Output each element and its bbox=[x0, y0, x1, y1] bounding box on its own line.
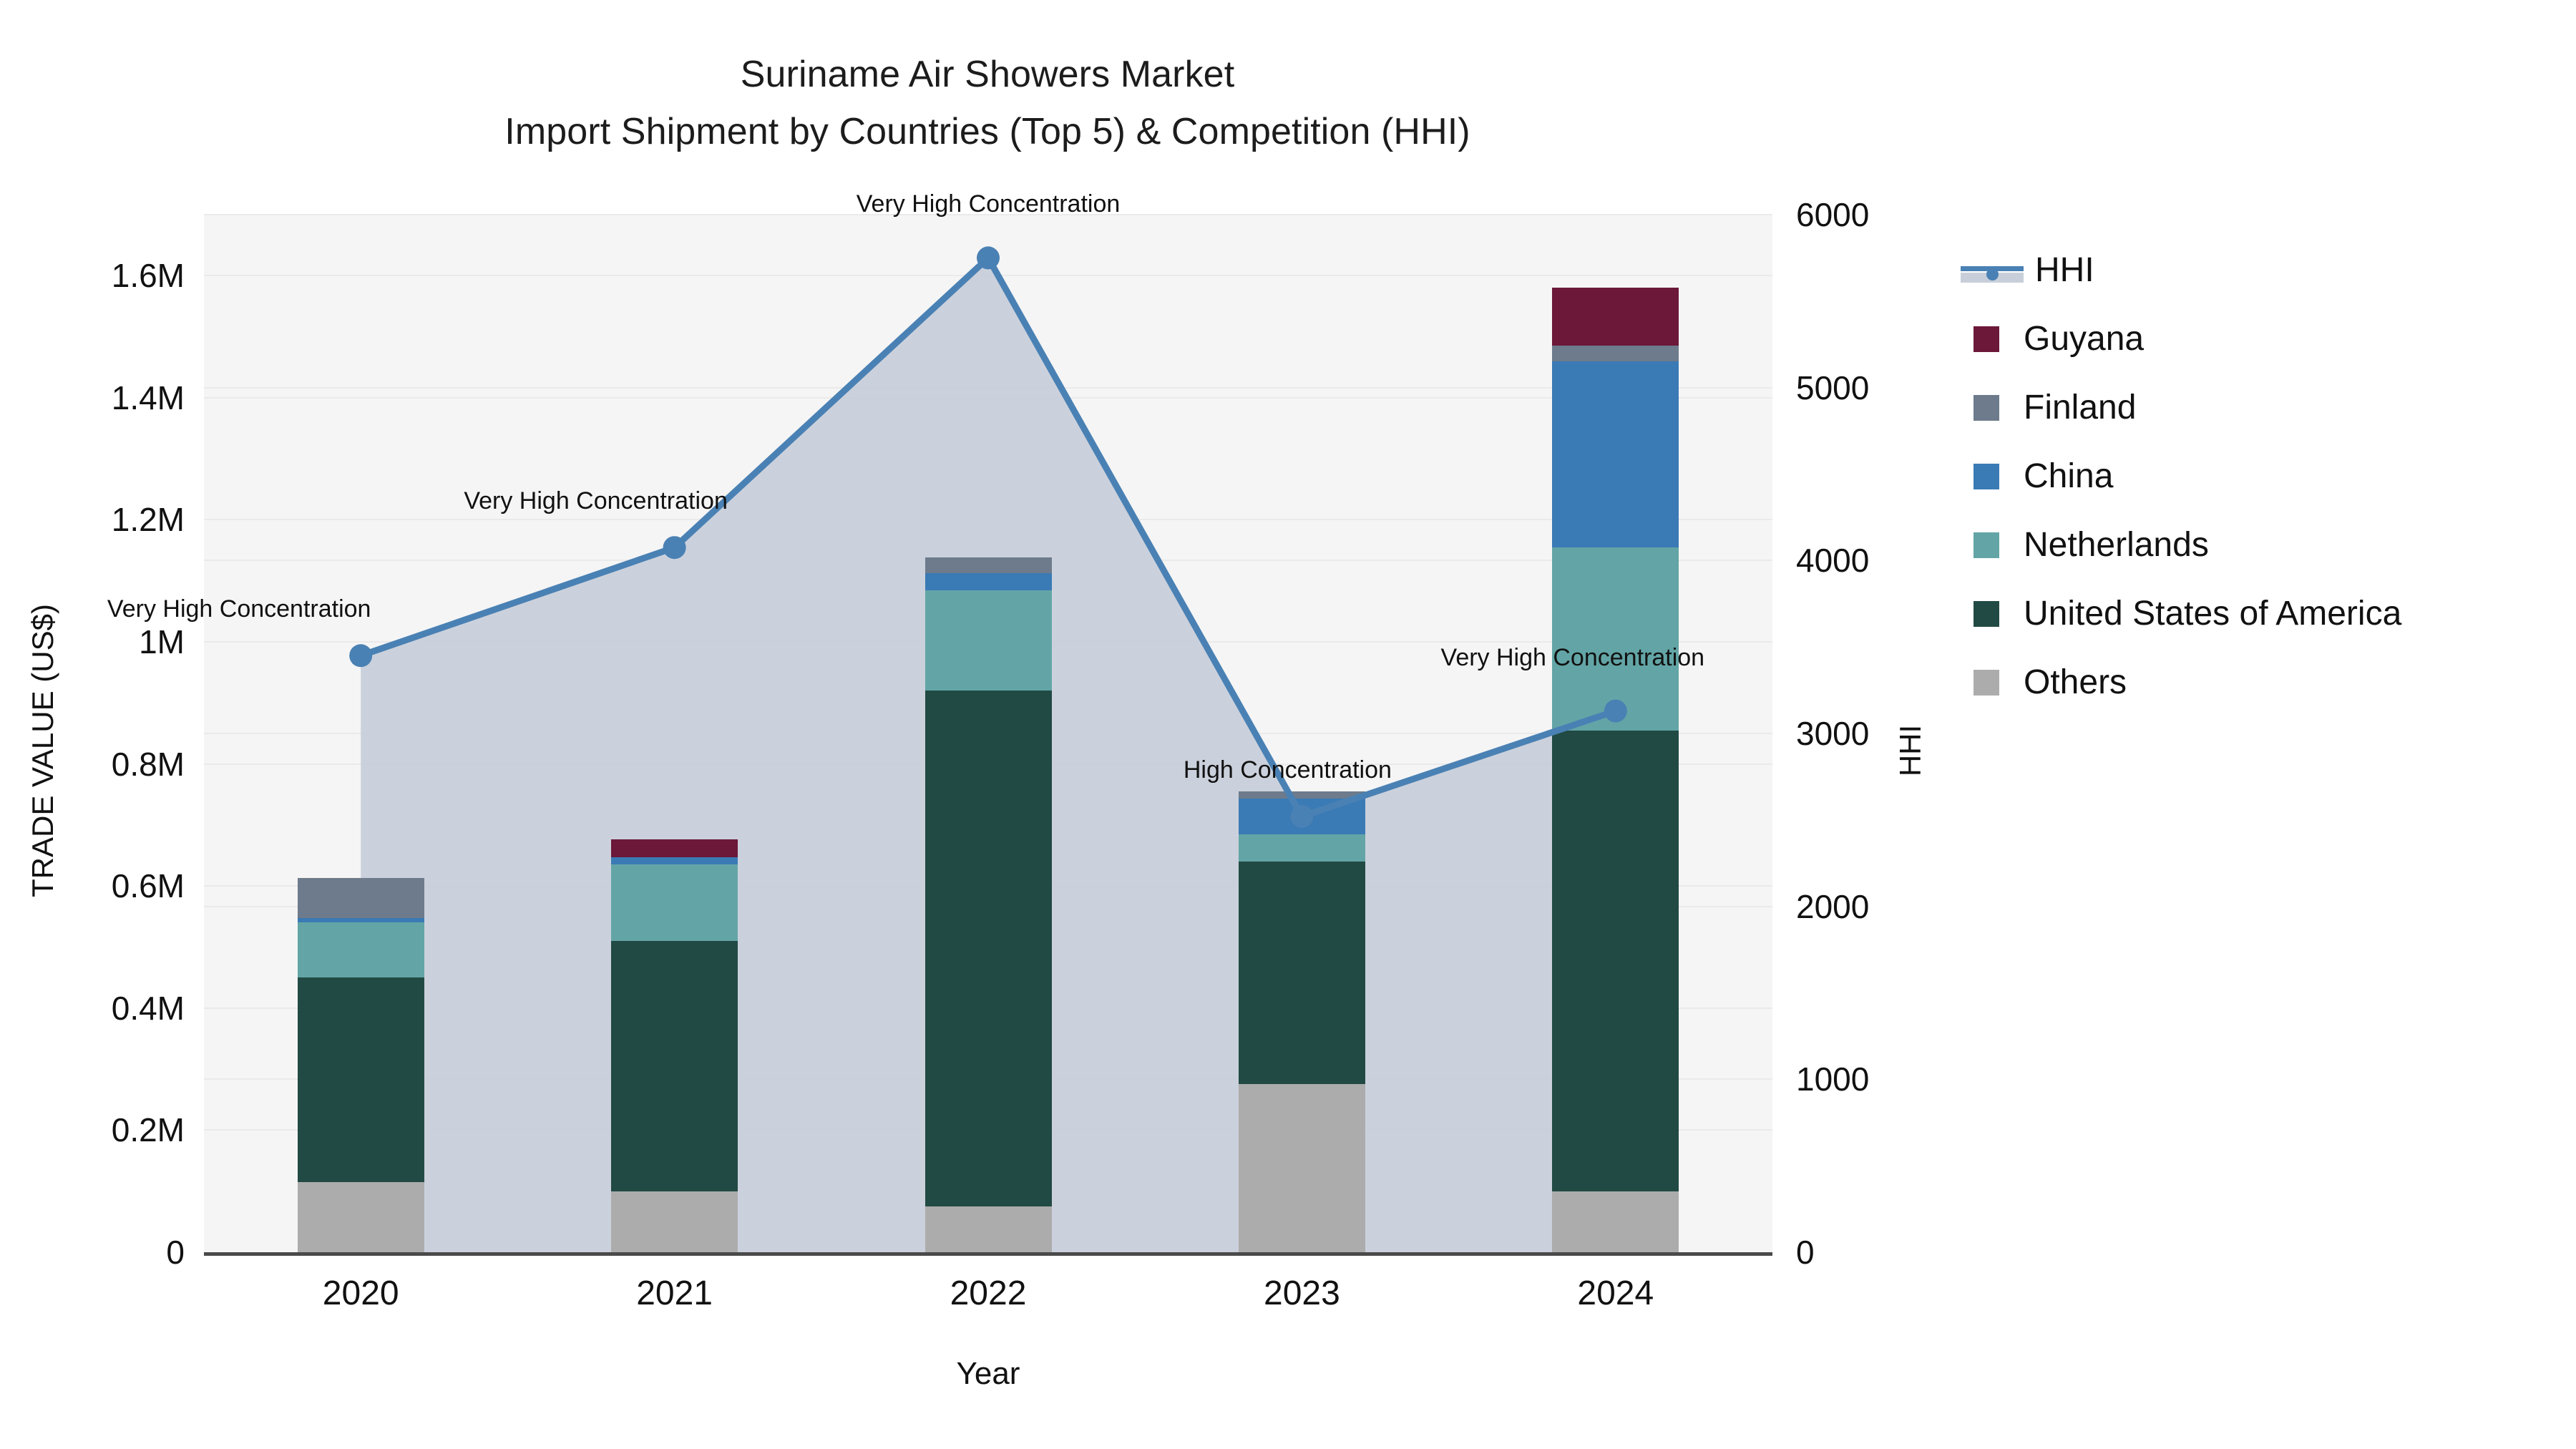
y-axis-right-tick-label: 4000 bbox=[1796, 541, 1869, 580]
legend-item[interactable]: Guyana bbox=[1961, 305, 2562, 374]
x-axis-tick-label: 2023 bbox=[1264, 1274, 1340, 1313]
hhi-point-annotation: Very High Concentration bbox=[1441, 645, 1705, 670]
legend-marker-dot bbox=[1986, 268, 1999, 280]
y-axis-left-tick-label: 0.6M bbox=[6, 867, 185, 905]
legend-item-label: HHI bbox=[2035, 253, 2094, 288]
legend-item-label: United States of America bbox=[2024, 597, 2401, 631]
legend-color-swatch bbox=[1974, 670, 1999, 696]
hhi-point-annotation: Very High Concentration bbox=[857, 192, 1121, 216]
chart-figure: Suriname Air Showers Market Import Shipm… bbox=[0, 0, 2576, 1449]
y-axis-left-tick-label: 0.4M bbox=[6, 989, 185, 1028]
y-axis-right-tick-label: 3000 bbox=[1796, 714, 1869, 753]
x-axis-line bbox=[204, 1252, 1772, 1256]
legend-color-swatch bbox=[1974, 395, 1999, 421]
legend-line-icon bbox=[1961, 257, 2024, 284]
legend-item[interactable]: HHI bbox=[1961, 236, 2562, 305]
x-axis-title: Year bbox=[204, 1356, 1772, 1392]
chart-title-block: Suriname Air Showers Market Import Shipm… bbox=[0, 56, 1975, 150]
hhi-annotations: Very High ConcentrationVery High Concent… bbox=[204, 215, 1772, 1252]
chart-legend: HHIGuyanaFinlandChinaNetherlandsUnited S… bbox=[1961, 236, 2562, 717]
legend-color-swatch bbox=[1974, 326, 1999, 352]
y-axis-left-tick-label: 1.2M bbox=[6, 500, 185, 539]
chart-subtitle: Import Shipment by Countries (Top 5) & C… bbox=[0, 113, 1975, 150]
hhi-point-annotation: Very High Concentration bbox=[107, 597, 371, 621]
legend-color-swatch bbox=[1974, 532, 1999, 558]
x-axis-tick-label: 2024 bbox=[1577, 1274, 1654, 1313]
y-axis-right-title: HHI bbox=[1893, 643, 1928, 858]
y-axis-right-tick-label: 1000 bbox=[1796, 1060, 1869, 1098]
hhi-point-annotation: High Concentration bbox=[1184, 758, 1392, 782]
x-axis-tick-label: 2021 bbox=[636, 1274, 713, 1313]
x-axis-tick-label: 2022 bbox=[950, 1274, 1027, 1313]
hhi-point-annotation: Very High Concentration bbox=[464, 489, 728, 513]
legend-item-label: Finland bbox=[2024, 391, 2136, 425]
y-axis-left-tick-label: 0.2M bbox=[6, 1111, 185, 1149]
y-axis-left-tick-label: 0 bbox=[6, 1233, 185, 1272]
legend-color-swatch bbox=[1974, 601, 1999, 627]
y-axis-right-tick-label: 2000 bbox=[1796, 887, 1869, 926]
y-axis-left-tick-label: 1.6M bbox=[6, 256, 185, 295]
chart-title: Suriname Air Showers Market bbox=[0, 56, 1975, 93]
legend-item[interactable]: Others bbox=[1961, 648, 2562, 717]
legend-item-label: China bbox=[2024, 459, 2113, 494]
y-axis-left-tick-label: 1M bbox=[6, 623, 185, 661]
plot-area: Very High ConcentrationVery High Concent… bbox=[204, 215, 1772, 1252]
legend-item[interactable]: United States of America bbox=[1961, 580, 2562, 648]
y-axis-right-tick-label: 0 bbox=[1796, 1233, 1815, 1272]
legend-item[interactable]: Finland bbox=[1961, 374, 2562, 442]
legend-item-label: Netherlands bbox=[2024, 528, 2209, 562]
y-axis-right-tick-label: 6000 bbox=[1796, 195, 1869, 234]
legend-item[interactable]: China bbox=[1961, 442, 2562, 511]
legend-item[interactable]: Netherlands bbox=[1961, 511, 2562, 580]
y-axis-right-tick-label: 5000 bbox=[1796, 369, 1869, 407]
x-axis-tick-label: 2020 bbox=[323, 1274, 399, 1313]
y-axis-left-tick-label: 1.4M bbox=[6, 379, 185, 417]
legend-item-label: Others bbox=[2024, 665, 2127, 700]
legend-item-label: Guyana bbox=[2024, 322, 2144, 356]
y-axis-left-tick-label: 0.8M bbox=[6, 745, 185, 784]
legend-color-swatch bbox=[1974, 464, 1999, 489]
